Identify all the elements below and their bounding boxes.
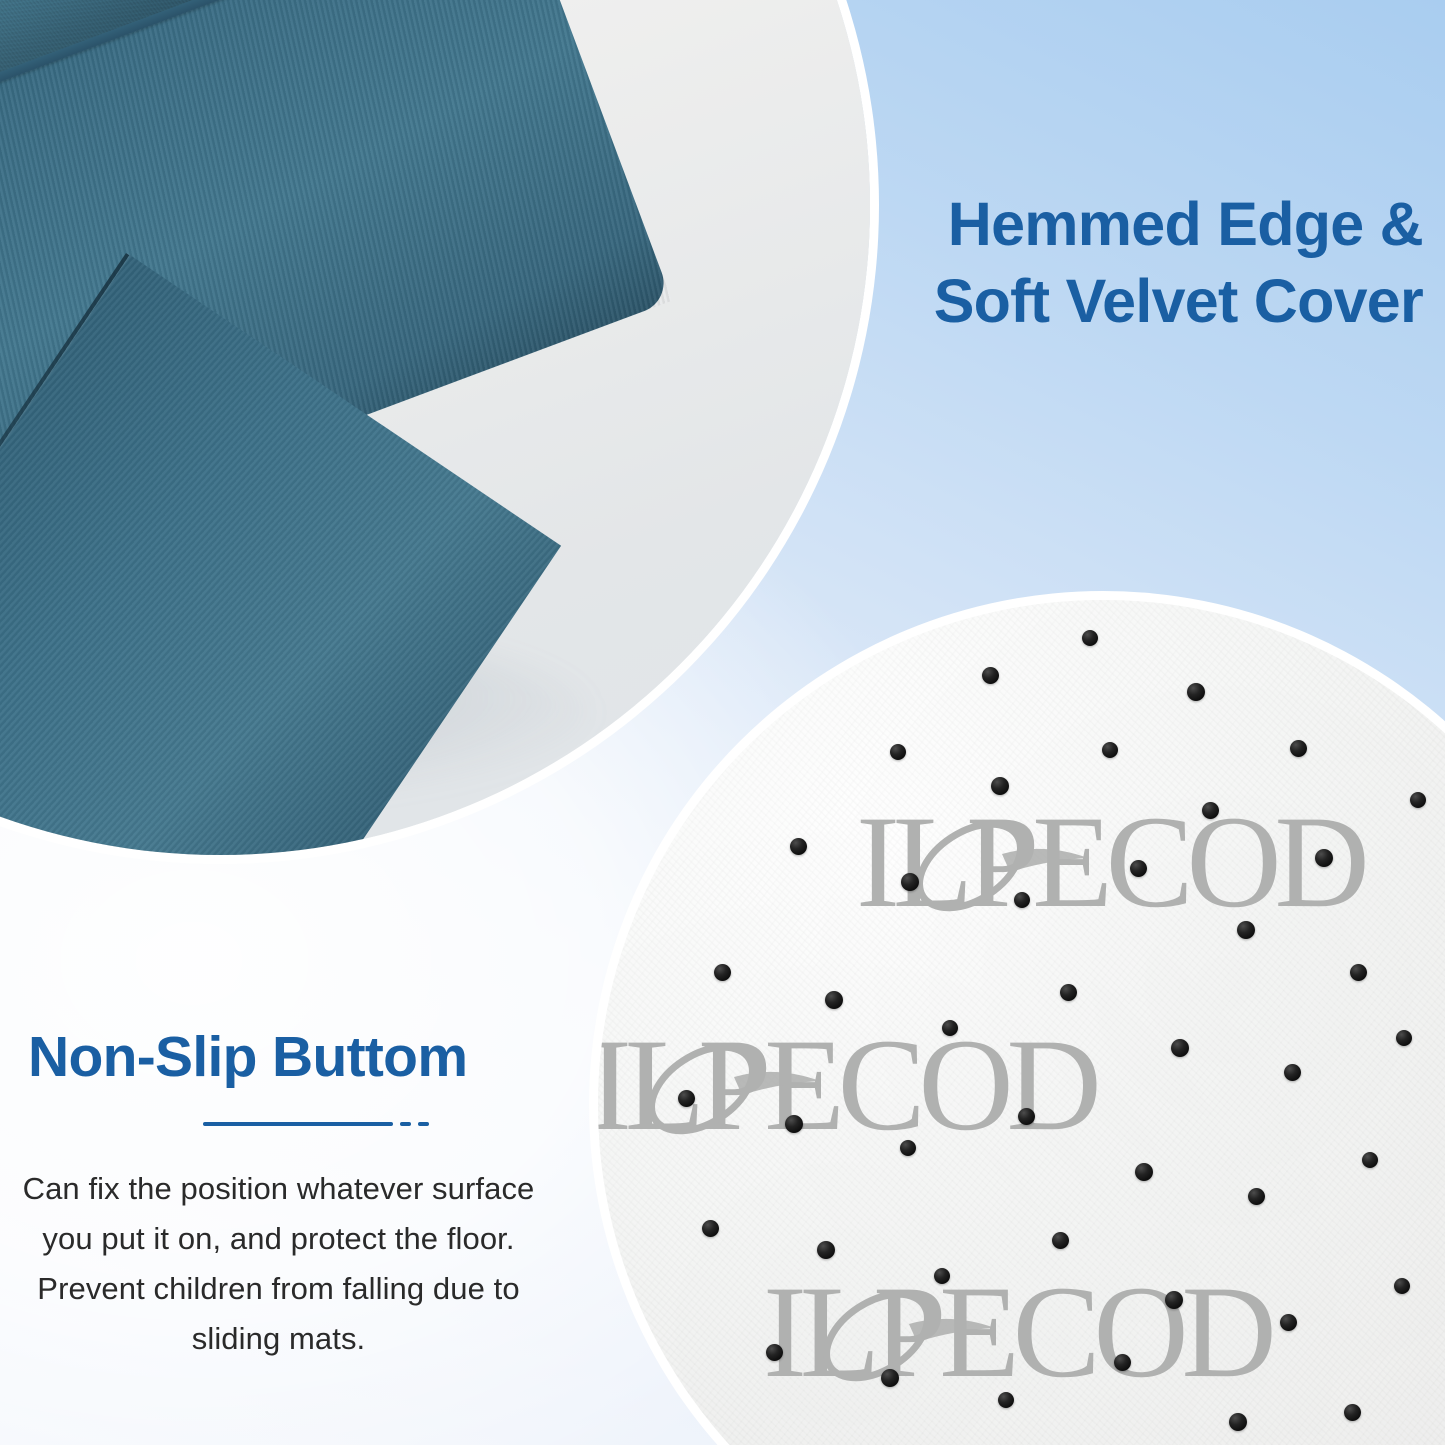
grip-dot — [1114, 1354, 1131, 1371]
headline: Hemmed Edge & Soft Velvet Cover — [783, 186, 1423, 340]
headline-line-1: Hemmed Edge & — [783, 186, 1423, 263]
grip-dot — [1315, 849, 1333, 867]
grip-dot — [1171, 1039, 1189, 1057]
divider-bar-long — [203, 1122, 393, 1126]
headline-line-2: Soft Velvet Cover — [783, 263, 1423, 340]
grip-dot — [766, 1344, 783, 1361]
grip-dot — [1130, 860, 1147, 877]
grip-dot — [1362, 1152, 1378, 1168]
feature-body-line-1: Can fix the position whatever surface — [16, 1164, 541, 1214]
grip-dot — [825, 991, 843, 1009]
grip-dot — [1187, 683, 1205, 701]
grip-dot — [900, 1140, 916, 1156]
feature-block: Non-Slip Buttom Can fix the position wha… — [16, 1026, 541, 1365]
grip-dot — [714, 964, 731, 981]
grip-dot — [1237, 921, 1255, 939]
grip-dot — [790, 838, 807, 855]
grip-dot — [982, 667, 999, 684]
grip-dot — [991, 777, 1009, 795]
grip-dot — [1344, 1404, 1361, 1421]
grip-dot — [1396, 1030, 1412, 1046]
grip-dot — [1018, 1108, 1035, 1125]
grip-dot — [1290, 740, 1307, 757]
feature-body-line-4: sliding mats. — [16, 1314, 541, 1364]
grip-dot — [881, 1369, 899, 1387]
grip-dot — [998, 1392, 1014, 1408]
mat-watermark-1: ILPECOD — [856, 785, 1363, 938]
grip-dot — [1202, 802, 1219, 819]
grip-dot — [1284, 1064, 1301, 1081]
grip-dot — [1280, 1314, 1297, 1331]
feature-title: Non-Slip Buttom — [16, 1026, 541, 1089]
grip-dot — [1165, 1291, 1183, 1309]
grip-dot — [702, 1220, 719, 1237]
grip-dot — [934, 1268, 950, 1284]
grip-dot — [817, 1241, 835, 1259]
grip-dot — [1052, 1232, 1069, 1249]
feature-divider — [16, 1122, 541, 1126]
grip-dot — [1060, 984, 1077, 1001]
grip-dot — [1410, 792, 1426, 808]
feature-body-line-2: you put it on, and protect the floor. — [16, 1214, 541, 1264]
grip-dot — [890, 744, 906, 760]
grip-dot — [1102, 742, 1118, 758]
feature-body: Can fix the position whatever surface yo… — [16, 1164, 541, 1365]
grip-dot — [1350, 964, 1367, 981]
grip-dot — [1014, 892, 1030, 908]
mat-watermark-3: ILPECOD — [763, 1255, 1270, 1408]
mat-panel: ILPECOD ILPECOD ILPECOD — [598, 600, 1445, 1445]
divider-bar-short — [418, 1122, 429, 1126]
grip-dot — [785, 1115, 803, 1133]
grip-dot — [901, 873, 919, 891]
grip-dot — [678, 1090, 695, 1107]
grip-dot — [942, 1020, 958, 1036]
grip-dot — [1394, 1278, 1410, 1294]
feature-body-line-3: Prevent children from falling due to — [16, 1264, 541, 1314]
mat-watermark-2: ILPECOD — [598, 1008, 1095, 1161]
product-infographic-canvas: ILPECOD ILPECOD ILPECOD Hemmed Edge & So… — [0, 0, 1445, 1445]
grip-dot — [1135, 1163, 1153, 1181]
grip-dot — [1229, 1413, 1247, 1431]
divider-bar-mid — [400, 1122, 411, 1126]
grip-dot — [1248, 1188, 1265, 1205]
grip-dot — [1082, 630, 1098, 646]
